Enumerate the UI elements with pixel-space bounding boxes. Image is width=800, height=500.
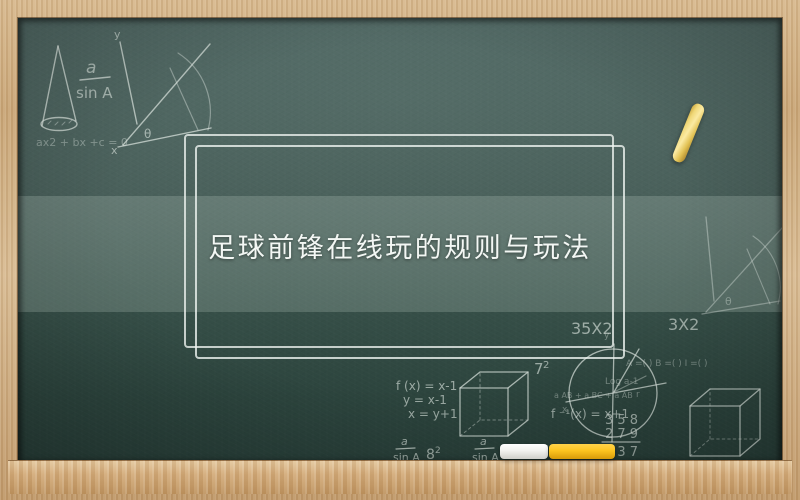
chalk-stick-white-tray <box>500 444 548 459</box>
chalk-ledge <box>8 460 792 494</box>
frame-inner-shadow <box>18 18 782 464</box>
blackboard-banner: a sin A y x θ ax2 + bx +c = 0 <box>0 0 800 500</box>
chalk-stick-yellow-tray <box>549 444 615 459</box>
